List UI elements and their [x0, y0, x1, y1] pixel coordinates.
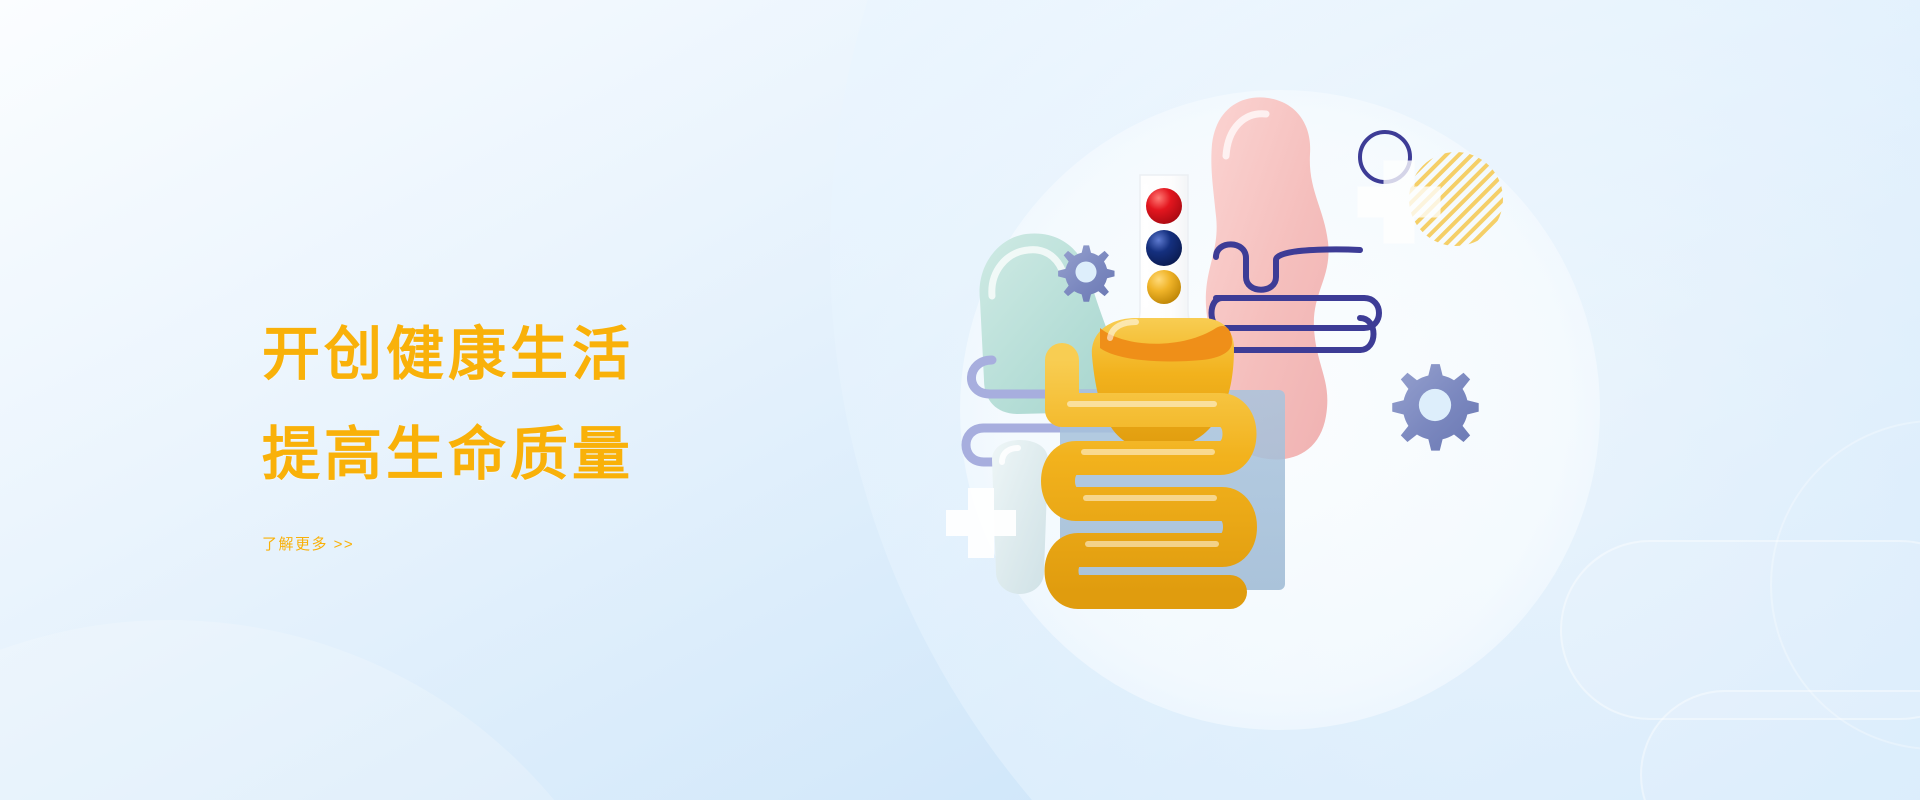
hero-banner: 开创健康生活 提高生命质量 了解更多 >> [0, 0, 1920, 800]
background-rounded-shape-2 [1640, 690, 1920, 800]
gear-large-icon [1392, 364, 1478, 450]
test-tube-ball-yellow [1147, 270, 1181, 304]
illustration-svg [940, 60, 1640, 750]
digestive-system-illustration [940, 60, 1640, 750]
headline-line-2: 提高生命质量 [262, 405, 882, 505]
test-tube-ball-navy [1146, 230, 1182, 266]
gear-small-icon [1058, 245, 1114, 301]
test-tube-ball-red [1146, 188, 1182, 224]
hero-copy: 开创健康生活 提高生命质量 了解更多 >> [262, 305, 882, 554]
learn-more-link[interactable]: 了解更多 >> [262, 533, 354, 554]
headline-line-1: 开创健康生活 [262, 305, 882, 405]
background-circle-bottom-left [0, 620, 670, 800]
